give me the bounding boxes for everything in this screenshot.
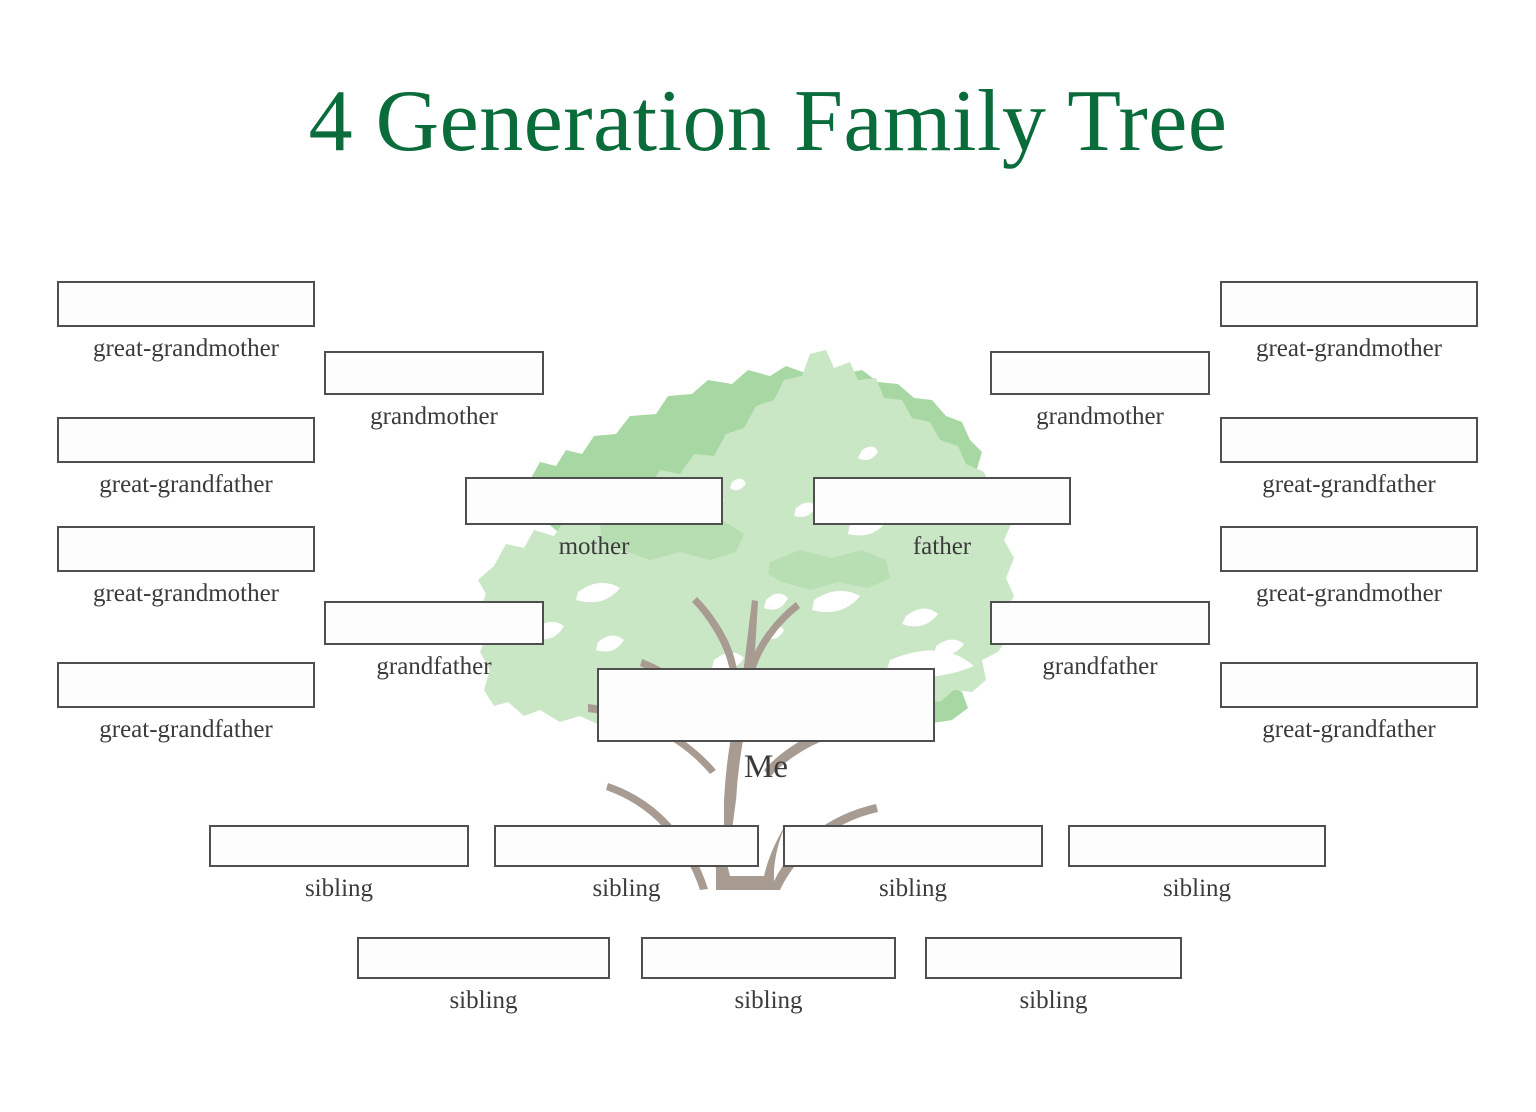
label-father: father xyxy=(813,534,1071,560)
label-paternal-grandfather: grandfather xyxy=(990,654,1210,680)
label-paternal-great-grandfather-2: great-grandfather xyxy=(1220,717,1478,743)
label-maternal-great-grandmother-1: great-grandmother xyxy=(57,336,315,362)
cell-paternal-great-grandfather-2: great-grandfather xyxy=(1220,662,1478,708)
family-tree-worksheet: 4 Generation Family Tree xyxy=(0,0,1536,1112)
cell-maternal-great-grandfather-2: great-grandfather xyxy=(57,662,315,708)
cell-sibling-7: sibling xyxy=(925,937,1182,979)
label-me: Me xyxy=(597,750,935,785)
cell-mother: mother xyxy=(465,477,723,525)
family-tree-illustration xyxy=(470,330,1030,890)
cell-maternal-great-grandmother-2: great-grandmother xyxy=(57,526,315,572)
name-input-sibling-6[interactable] xyxy=(641,937,896,979)
label-maternal-grandfather: grandfather xyxy=(324,654,544,680)
cell-father: father xyxy=(813,477,1071,525)
cell-paternal-great-grandfather-1: great-grandfather xyxy=(1220,417,1478,463)
label-sibling-5: sibling xyxy=(357,988,610,1014)
name-input-paternal-great-grandfather-1[interactable] xyxy=(1220,417,1478,463)
label-sibling-6: sibling xyxy=(641,988,896,1014)
name-input-maternal-great-grandmother-1[interactable] xyxy=(57,281,315,327)
cell-maternal-great-grandfather-1: great-grandfather xyxy=(57,417,315,463)
label-paternal-great-grandmother-1: great-grandmother xyxy=(1220,336,1478,362)
label-maternal-great-grandmother-2: great-grandmother xyxy=(57,581,315,607)
cell-paternal-grandfather: grandfather xyxy=(990,601,1210,645)
label-maternal-great-grandfather-1: great-grandfather xyxy=(57,472,315,498)
name-input-maternal-great-grandfather-1[interactable] xyxy=(57,417,315,463)
name-input-mother[interactable] xyxy=(465,477,723,525)
label-sibling-7: sibling xyxy=(925,988,1182,1014)
label-sibling-1: sibling xyxy=(209,876,469,902)
name-input-paternal-grandmother[interactable] xyxy=(990,351,1210,395)
cell-paternal-great-grandmother-2: great-grandmother xyxy=(1220,526,1478,572)
label-maternal-grandmother: grandmother xyxy=(324,404,544,430)
name-input-paternal-great-grandmother-1[interactable] xyxy=(1220,281,1478,327)
name-input-sibling-1[interactable] xyxy=(209,825,469,867)
page-title: 4 Generation Family Tree xyxy=(0,78,1536,166)
cell-paternal-grandmother: grandmother xyxy=(990,351,1210,395)
cell-sibling-4: sibling xyxy=(1068,825,1326,867)
cell-paternal-great-grandmother-1: great-grandmother xyxy=(1220,281,1478,327)
name-input-father[interactable] xyxy=(813,477,1071,525)
cell-sibling-6: sibling xyxy=(641,937,896,979)
label-sibling-3: sibling xyxy=(783,876,1043,902)
name-input-maternal-grandfather[interactable] xyxy=(324,601,544,645)
label-paternal-great-grandmother-2: great-grandmother xyxy=(1220,581,1478,607)
name-input-sibling-4[interactable] xyxy=(1068,825,1326,867)
cell-maternal-grandfather: grandfather xyxy=(324,601,544,645)
name-input-paternal-great-grandmother-2[interactable] xyxy=(1220,526,1478,572)
label-mother: mother xyxy=(465,534,723,560)
name-input-sibling-3[interactable] xyxy=(783,825,1043,867)
label-sibling-2: sibling xyxy=(494,876,759,902)
label-sibling-4: sibling xyxy=(1068,876,1326,902)
name-input-me[interactable] xyxy=(597,668,935,742)
cell-maternal-great-grandmother-1: great-grandmother xyxy=(57,281,315,327)
label-maternal-great-grandfather-2: great-grandfather xyxy=(57,717,315,743)
cell-sibling-1: sibling xyxy=(209,825,469,867)
name-input-sibling-7[interactable] xyxy=(925,937,1182,979)
name-input-sibling-5[interactable] xyxy=(357,937,610,979)
cell-maternal-grandmother: grandmother xyxy=(324,351,544,395)
name-input-maternal-grandmother[interactable] xyxy=(324,351,544,395)
name-input-maternal-great-grandmother-2[interactable] xyxy=(57,526,315,572)
cell-me: Me xyxy=(597,668,935,742)
name-input-maternal-great-grandfather-2[interactable] xyxy=(57,662,315,708)
name-input-paternal-great-grandfather-2[interactable] xyxy=(1220,662,1478,708)
name-input-sibling-2[interactable] xyxy=(494,825,759,867)
cell-sibling-2: sibling xyxy=(494,825,759,867)
label-paternal-great-grandfather-1: great-grandfather xyxy=(1220,472,1478,498)
cell-sibling-3: sibling xyxy=(783,825,1043,867)
cell-sibling-5: sibling xyxy=(357,937,610,979)
name-input-paternal-grandfather[interactable] xyxy=(990,601,1210,645)
label-paternal-grandmother: grandmother xyxy=(990,404,1210,430)
